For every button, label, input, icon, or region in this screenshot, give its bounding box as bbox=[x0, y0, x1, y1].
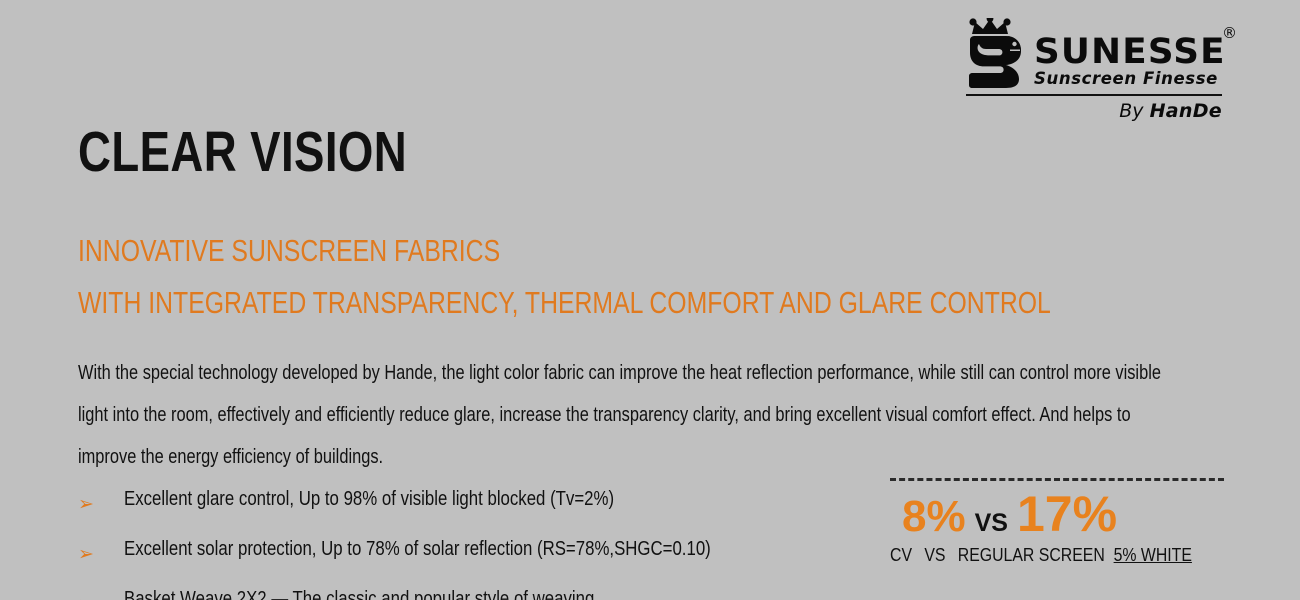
dashed-divider bbox=[890, 478, 1224, 481]
crowned-lion-s-emblem-icon bbox=[966, 18, 1028, 90]
list-item: ➢ Basket Weave 2X2 — The classic and pop… bbox=[78, 586, 1078, 600]
brochure-page: SUNESSE ® Sunscreen Finesse By HanDe CLE… bbox=[0, 0, 1300, 600]
comparison-stats-panel: 8% VS 17% CV VS REGULAR SCREEN 5% WHITE bbox=[890, 478, 1224, 566]
stats-legend-row: CV VS REGULAR SCREEN 5% WHITE bbox=[890, 546, 1184, 566]
logo-tagline: Sunscreen Finesse bbox=[1034, 70, 1222, 89]
subtitle-line-2: WITH INTEGRATED TRANSPARENCY, THERMAL CO… bbox=[78, 287, 1051, 318]
logo-by-brand: HanDe bbox=[1150, 100, 1222, 122]
page-title: CLEAR VISION bbox=[78, 124, 407, 181]
legend-note-label: 5% WHITE bbox=[1114, 546, 1192, 566]
legend-left-label: CV bbox=[890, 546, 912, 566]
stat-value-right: 17% bbox=[1017, 489, 1117, 539]
body-paragraph: With the special technology developed by… bbox=[78, 352, 1190, 478]
logo-wordmark: SUNESSE bbox=[1034, 35, 1226, 69]
arrow-bullet-icon: ➢ bbox=[78, 586, 124, 600]
legend-vs-label: VS bbox=[924, 546, 945, 566]
list-item-label: Excellent solar protection, Up to 78% of… bbox=[124, 536, 711, 562]
arrow-bullet-icon: ➢ bbox=[78, 486, 124, 517]
logo-wordmark-group: SUNESSE ® Sunscreen Finesse bbox=[1034, 35, 1222, 90]
logo-by-line: By HanDe bbox=[966, 102, 1222, 121]
brand-logo: SUNESSE ® Sunscreen Finesse By HanDe bbox=[966, 18, 1222, 121]
subtitle-line-1: INNOVATIVE SUNSCREEN FABRICS bbox=[78, 235, 500, 266]
list-item-label: Excellent glare control, Up to 98% of vi… bbox=[124, 486, 614, 512]
arrow-bullet-icon: ➢ bbox=[78, 536, 124, 567]
logo-by-prefix: By bbox=[1119, 100, 1143, 122]
stats-figures-row: 8% VS 17% bbox=[890, 489, 1224, 539]
registered-trademark-icon: ® bbox=[1222, 26, 1237, 41]
legend-right-label: REGULAR SCREEN bbox=[958, 546, 1105, 566]
logo-divider-rule bbox=[966, 94, 1222, 96]
stat-value-left: 8% bbox=[902, 495, 966, 539]
logo-lockup: SUNESSE ® Sunscreen Finesse bbox=[966, 18, 1222, 90]
list-item-label: Basket Weave 2X2 — The classic and popul… bbox=[124, 586, 594, 600]
stat-vs-label: VS bbox=[975, 511, 1008, 536]
